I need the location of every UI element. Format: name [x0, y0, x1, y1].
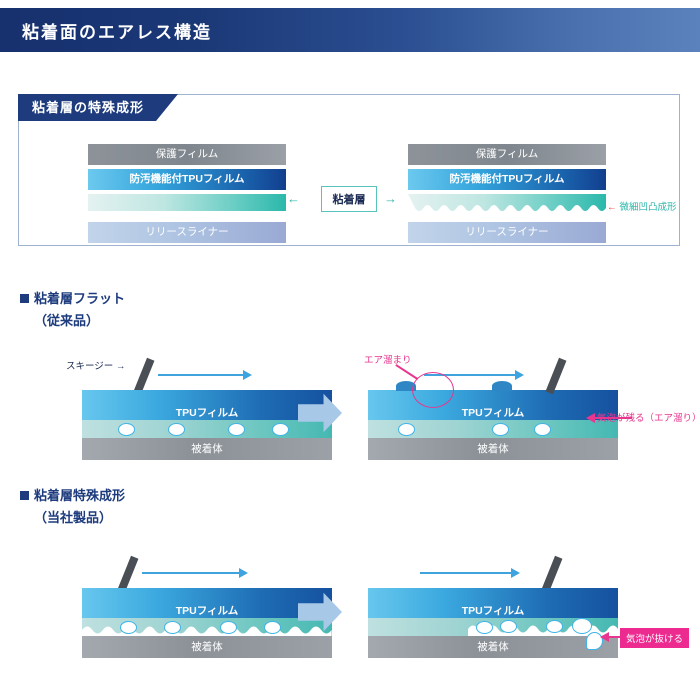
- squeegee-blade-icon: [134, 358, 155, 394]
- squeegee-blade-icon: [118, 556, 139, 592]
- layer-label: 保護フィルム: [156, 148, 219, 160]
- sweep-direction-arrowhead-icon: [515, 370, 524, 380]
- sweep-direction-arrow: [142, 572, 240, 574]
- air-bubble: [228, 423, 245, 436]
- layer-stack-flat: 保護フィルム 防汚機能付TPUフィルム リリースライナー: [88, 144, 286, 247]
- sweep-direction-arrowhead-icon: [243, 370, 252, 380]
- layer-release-liner: リリースライナー: [408, 222, 606, 243]
- air-bubble: [164, 621, 181, 634]
- layer-label: 保護フィルム: [476, 148, 539, 160]
- result-arrowhead-icon: [586, 413, 595, 423]
- air-bubble: [546, 620, 563, 633]
- diagram-textured-before: TPUフィルム 被着体: [82, 588, 332, 658]
- air-bubble: [492, 423, 509, 436]
- page-title: 粘着面のエアレス構造: [22, 18, 212, 43]
- air-bubble: [500, 620, 517, 633]
- layer-label: リリースライナー: [465, 226, 548, 238]
- section2-result-badge: 気泡が抜ける: [620, 628, 689, 648]
- sweep-direction-arrow: [158, 374, 244, 376]
- air-pocket-label: エア溜まり: [364, 352, 412, 366]
- air-bubble: [264, 621, 281, 634]
- section1-result-label: 気泡が残る（エア溜り）: [597, 410, 700, 424]
- section1-subheading: （従来品）: [34, 310, 99, 329]
- layer-protective-film: 保護フィルム: [408, 144, 606, 165]
- layer-stack-textured: 保護フィルム 防汚機能付TPUフィルム リリースライナー: [408, 144, 606, 247]
- section2-subheading: （当社製品）: [34, 507, 112, 526]
- panel-tab-label: 粘着層の特殊成形: [18, 94, 178, 121]
- substrate-layer: 被着体: [368, 438, 618, 460]
- section1-heading: 粘着層フラット: [20, 288, 125, 307]
- squeegee-blade-icon: [546, 358, 567, 394]
- adhesive-layer-callout: 粘着層: [321, 186, 377, 212]
- tpu-film-layer: TPUフィルム: [82, 588, 332, 618]
- layer-label: 防汚機能付TPUフィルム: [449, 173, 564, 185]
- section2-heading-text: 粘着層特殊成形: [34, 488, 125, 503]
- micro-texture-wave: [408, 194, 606, 218]
- layer-adhesive-textured: [408, 194, 606, 218]
- bullet-square-icon: [20, 491, 29, 500]
- sweep-direction-arrow: [420, 572, 512, 574]
- air-bubble: [120, 621, 137, 634]
- layer-protective-film: 保護フィルム: [88, 144, 286, 165]
- layer-label: リリースライナー: [145, 226, 228, 238]
- squeegee-label: スキージー →: [66, 358, 125, 372]
- diagram-flat-before: TPUフィルム 被着体: [82, 390, 332, 460]
- tpu-film-layer: TPUフィルム: [368, 588, 618, 618]
- section1-heading-text: 粘着層フラット: [34, 291, 125, 306]
- escaping-bubble: [572, 618, 592, 634]
- substrate-label: 被着体: [82, 438, 332, 460]
- layer-label: 防汚機能付TPUフィルム: [129, 173, 244, 185]
- substrate-label: 被着体: [82, 636, 332, 658]
- squeegee-blade-icon: [542, 556, 563, 592]
- airless-structure-diagram: 粘着面のエアレス構造 粘着層の特殊成形 保護フィルム 防汚機能付TPUフィルム …: [0, 0, 700, 700]
- substrate-label: 被着体: [368, 438, 618, 460]
- tpu-film-layer: TPUフィルム: [368, 390, 618, 420]
- substrate-layer: 被着体: [82, 438, 332, 460]
- air-bubble: [534, 423, 551, 436]
- substrate-layer: 被着体: [368, 636, 618, 658]
- air-bubble: [476, 621, 493, 634]
- air-bubble: [118, 423, 135, 436]
- arrow-right-icon: →: [384, 192, 397, 205]
- air-pocket-leader-line: [396, 364, 419, 379]
- substrate-label: 被着体: [368, 636, 618, 658]
- layer-tpu-film: 防汚機能付TPUフィルム: [88, 169, 286, 190]
- air-pocket-bump: [492, 381, 512, 391]
- section2-heading: 粘着層特殊成形: [20, 485, 125, 504]
- air-bubble: [272, 423, 289, 436]
- layer-release-liner: リリースライナー: [88, 222, 286, 243]
- air-bubble: [220, 621, 237, 634]
- arrow-left-icon: ←: [287, 192, 300, 205]
- diagram-flat-after: TPUフィルム 被着体: [368, 390, 618, 460]
- air-bubble: [168, 423, 185, 436]
- adhesive-body: [88, 194, 286, 211]
- layer-tpu-film: 防汚機能付TPUフィルム: [408, 169, 606, 190]
- layer-adhesive-flat: [88, 194, 286, 218]
- micro-texture-label: 微細凹凸成形: [620, 202, 677, 213]
- bullet-square-icon: [20, 294, 29, 303]
- sweep-direction-arrowhead-icon: [511, 568, 520, 578]
- sweep-direction-arrowhead-icon: [239, 568, 248, 578]
- micro-texture-annotation: ←微細凹凸成形: [607, 199, 677, 213]
- page-header-banner: 粘着面のエアレス構造: [0, 8, 700, 52]
- air-pocket-highlight-circle: [412, 372, 454, 408]
- red-arrow-icon: ←: [607, 202, 617, 213]
- air-bubble: [398, 423, 415, 436]
- tpu-film-layer: TPUフィルム: [82, 390, 332, 420]
- substrate-layer: 被着体: [82, 636, 332, 658]
